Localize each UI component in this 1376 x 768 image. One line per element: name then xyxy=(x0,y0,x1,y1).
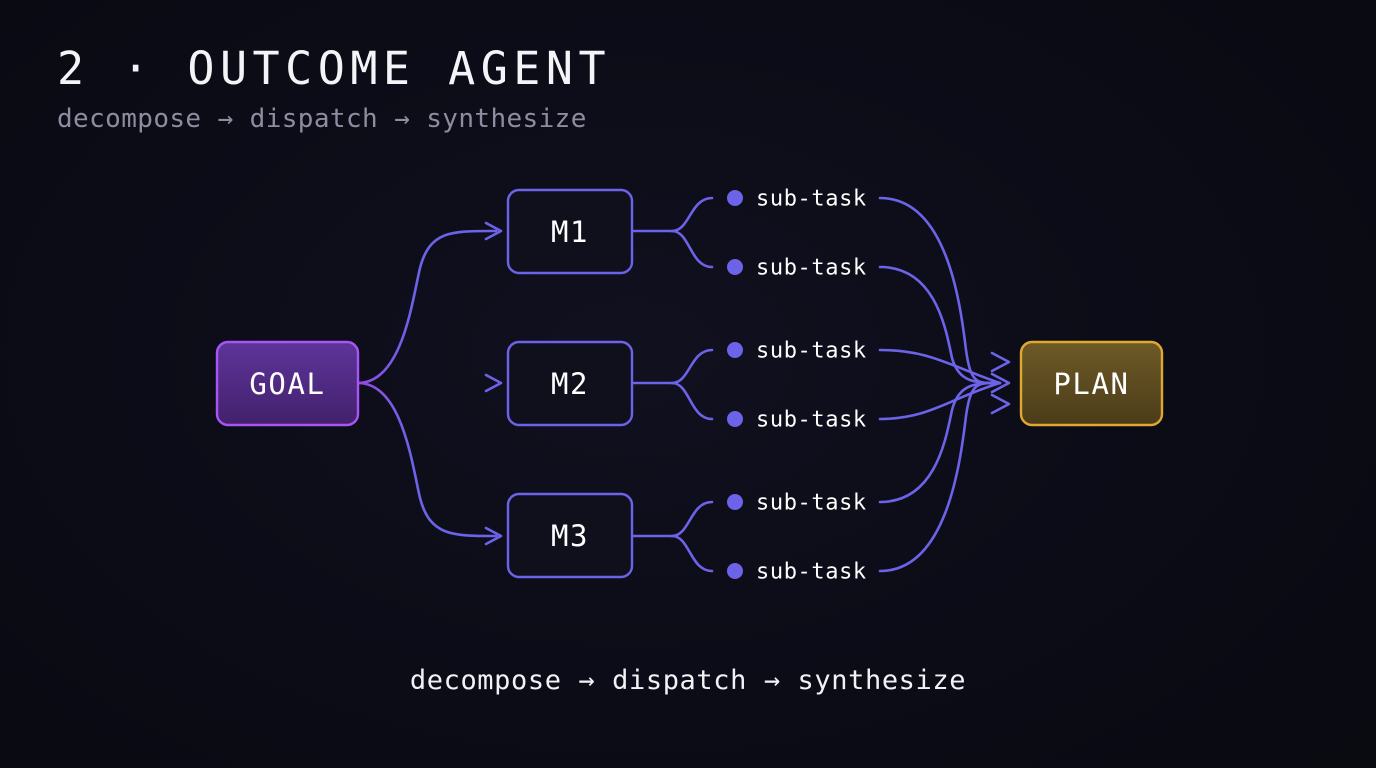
edge-s5-plan xyxy=(880,383,1000,502)
node-subtask-1[interactable]: sub-task xyxy=(727,187,867,212)
subtask-dot xyxy=(727,342,743,358)
outcome-agent-flow-diagram: GOAL M1 M2 M3 sub-task sub-task sub-task xyxy=(0,0,1376,768)
edge-s4-plan xyxy=(880,383,1000,419)
edge-s6-plan xyxy=(880,383,1000,571)
node-plan[interactable]: PLAN xyxy=(1021,342,1162,425)
subtask-label: sub-task xyxy=(756,560,867,585)
edge-m1-s1 xyxy=(672,198,712,231)
node-m1[interactable]: M1 xyxy=(508,190,632,273)
edge-m1-s2 xyxy=(672,231,712,267)
subtask-label: sub-task xyxy=(756,339,867,364)
m3-label: M3 xyxy=(551,519,589,553)
node-subtask-5[interactable]: sub-task xyxy=(727,491,867,516)
subtask-dot xyxy=(727,563,743,579)
arrowhead-plan-top xyxy=(992,353,1009,371)
edge-s3-plan xyxy=(880,350,1000,383)
subtask-dot xyxy=(727,190,743,206)
subtask-dot xyxy=(727,411,743,427)
edges-goal-to-modules xyxy=(358,231,496,536)
node-m2[interactable]: M2 xyxy=(508,342,632,425)
slide-caption: decompose → dispatch → synthesize xyxy=(0,665,1376,696)
edge-m3-s6 xyxy=(672,536,712,571)
edge-m3-s5 xyxy=(672,502,712,536)
node-goal[interactable]: GOAL xyxy=(217,342,358,425)
m2-label: M2 xyxy=(551,367,589,401)
edge-goal-m3 xyxy=(358,383,496,536)
m1-label: M1 xyxy=(551,215,589,249)
goal-label: GOAL xyxy=(249,367,325,401)
plan-label: PLAN xyxy=(1053,367,1129,401)
node-subtask-6[interactable]: sub-task xyxy=(727,560,867,585)
edge-goal-m1 xyxy=(358,231,496,383)
node-m3[interactable]: M3 xyxy=(508,494,632,577)
subtask-dot xyxy=(727,494,743,510)
node-subtask-3[interactable]: sub-task xyxy=(727,339,867,364)
subtask-label: sub-task xyxy=(756,256,867,281)
node-subtask-2[interactable]: sub-task xyxy=(727,256,867,281)
edges-modules-to-subtasks xyxy=(632,198,712,571)
subtask-label: sub-task xyxy=(756,187,867,212)
edges-subtasks-to-plan xyxy=(880,198,1000,571)
edge-m2-s4 xyxy=(672,383,712,419)
slide-canvas: 2 · OUTCOME AGENT decompose → dispatch →… xyxy=(0,0,1376,768)
node-subtask-4[interactable]: sub-task xyxy=(727,408,867,433)
edge-m2-s3 xyxy=(672,350,712,383)
edge-s2-plan xyxy=(880,267,1000,383)
subtask-label: sub-task xyxy=(756,408,867,433)
subtask-dot xyxy=(727,259,743,275)
edge-s1-plan xyxy=(880,198,1000,383)
arrowhead-plan-bottom xyxy=(992,395,1009,413)
subtask-label: sub-task xyxy=(756,491,867,516)
